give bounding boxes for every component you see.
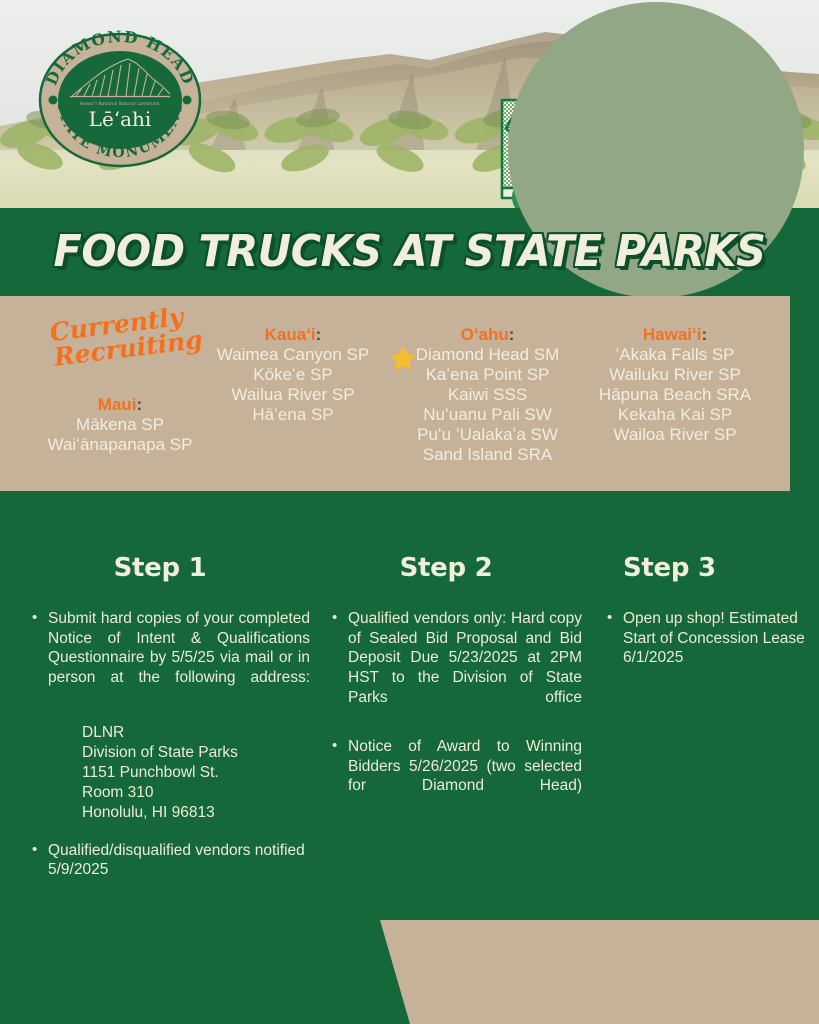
island-name-hawaii: Hawaiʻi:	[575, 324, 775, 345]
island-group-hawaii: Hawaiʻi: ʻAkaka Falls SP Wailuku River S…	[575, 324, 775, 445]
island-group-kauai: Kauaʻi: Waimea Canyon SP Kōkeʻe SP Wailu…	[188, 324, 398, 425]
park-list-hawaii: ʻAkaka Falls SP Wailuku River SP Hāpuna …	[575, 345, 775, 445]
diamond-head-state-monument-seal: DIAMOND HEAD STATE MONUMENT Hawaiʻi Nati…	[36, 30, 204, 170]
island-name-kauai: Kauaʻi:	[188, 324, 398, 345]
currently-recruiting-panel: Currently Recruiting Maui: Mākena SP Wai…	[0, 296, 790, 491]
step-1-heading: Step 1	[10, 553, 310, 583]
list-item: Waimea Canyon SP	[188, 345, 398, 365]
list-item: Kekaha Kai SP	[575, 405, 775, 425]
step-3-bullet-list: Open up shop! Estimated Start of Concess…	[585, 609, 819, 668]
island-label: Oʻahu	[461, 325, 509, 344]
list-item: Hāpuna Beach SRA	[575, 385, 775, 405]
list-item: Submit hard copies of your completed Not…	[48, 609, 310, 707]
seal-sublabel-text: Hawaiʻi National Natural Landmark	[80, 101, 160, 106]
list-item: Hāʻena SP	[188, 405, 398, 425]
step-1-bullet-list: Submit hard copies of your completed Not…	[10, 609, 310, 707]
step-2-bullet-list: Qualified vendors only: Hard copy of Sea…	[310, 609, 582, 816]
page-title: FOOD TRUCKS AT STATE PARKS	[25, 226, 795, 277]
address-line: Honolulu, HI 96813	[82, 803, 310, 823]
list-item: Puʻu ʻUalakaʻa SW	[390, 425, 585, 445]
island-name-oahu: Oʻahu:	[390, 324, 585, 345]
mailing-address: DLNR Division of State Parks 1151 Punchb…	[10, 723, 310, 822]
list-item: Qualified vendors only: Hard copy of Sea…	[348, 609, 582, 727]
list-item: Wailua River SP	[188, 385, 398, 405]
star-icon	[389, 344, 417, 372]
step-2: Step 2 Qualified vendors only: Hard copy…	[310, 491, 582, 826]
island-group-oahu: Oʻahu: Diamond Head SM Kaʻena Point SP K…	[390, 324, 585, 466]
currently-recruiting-label: Currently Recruiting	[36, 302, 201, 371]
list-item: Nuʻuanu Pali SW	[390, 405, 585, 425]
list-item: Kaiwi SSS	[390, 385, 585, 405]
list-item: Kaʻena Point SP	[390, 365, 585, 385]
address-line: Room 310	[82, 783, 310, 803]
island-label: Hawaiʻi	[643, 325, 702, 344]
island-colon: :	[701, 325, 707, 344]
infographic-page: DIAMOND HEAD STATE MONUMENT Hawaiʻi Nati…	[0, 0, 819, 1024]
list-item: Open up shop! Estimated Start of Concess…	[623, 609, 819, 668]
step-1: Step 1 Submit hard copies of your comple…	[10, 491, 310, 890]
list-item: Wailuku River SP	[575, 365, 775, 385]
list-item: Notice of Award to Winning Bidders 5/26/…	[348, 737, 582, 816]
step-2-heading: Step 2	[310, 553, 582, 583]
park-list-oahu: Diamond Head SM Kaʻena Point SP Kaiwi SS…	[390, 345, 585, 465]
steps-section: Step 1 Submit hard copies of your comple…	[0, 491, 819, 931]
step-3: Step 3 Open up shop! Estimated Start of …	[585, 491, 819, 678]
seal-center-name-text: Lēʻahi	[89, 107, 152, 131]
step-3-heading: Step 3	[585, 553, 819, 583]
list-item: Kōkeʻe SP	[188, 365, 398, 385]
address-line: Division of State Parks	[82, 743, 310, 763]
list-item: Diamond Head SM	[390, 345, 585, 365]
island-label: Maui	[98, 395, 137, 414]
list-item: Waiʻānapanapa SP	[20, 435, 220, 455]
list-item: Sand Island SRA	[390, 445, 585, 465]
list-item: Wailoa River SP	[575, 425, 775, 445]
island-colon: :	[316, 325, 322, 344]
address-line: 1151 Punchbowl St.	[82, 763, 310, 783]
island-colon: :	[137, 395, 143, 414]
island-colon: :	[509, 325, 515, 344]
park-list-kauai: Waimea Canyon SP Kōkeʻe SP Wailua River …	[188, 345, 398, 425]
island-label: Kauaʻi	[265, 325, 316, 344]
address-line: DLNR	[82, 723, 310, 743]
list-item: Qualified/disqualified vendors notified …	[48, 841, 310, 880]
list-item: ʻAkaka Falls SP	[575, 345, 775, 365]
step-1-bullet-list-after: Qualified/disqualified vendors notified …	[10, 841, 310, 880]
